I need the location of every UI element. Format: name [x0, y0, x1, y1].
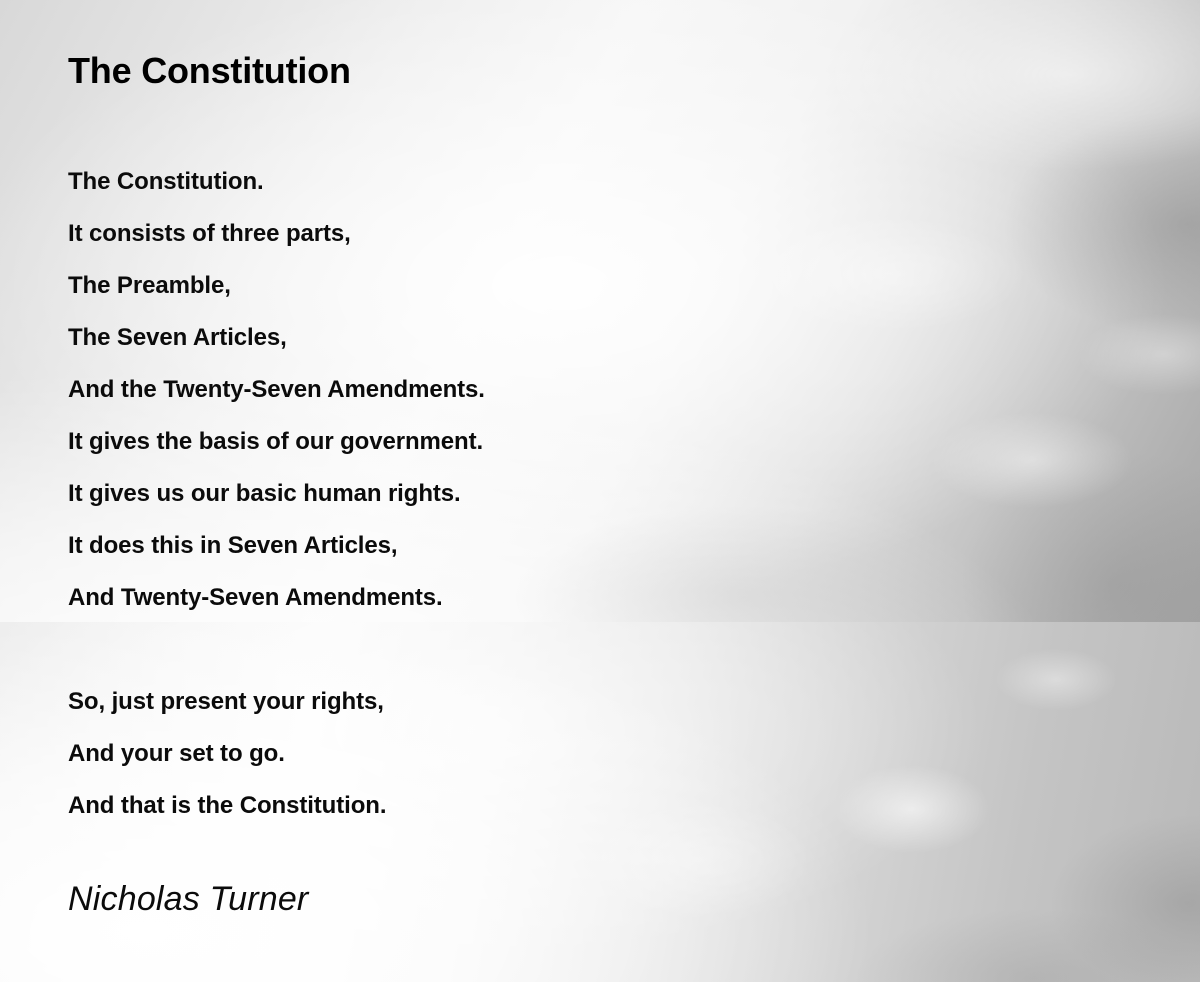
poem-stanza-one: The Constitution.It consists of three pa… — [68, 156, 1128, 624]
poem-line: And that is the Constitution. — [68, 780, 1128, 832]
poem-title: The Constitution — [68, 50, 351, 92]
poem-line: And Twenty-Seven Amendments. — [68, 572, 1128, 624]
poem-content: The Constitution The Constitution.It con… — [0, 0, 1200, 982]
poem-stanza-two: So, just present your rights,And your se… — [68, 676, 1128, 832]
poem-line: And the Twenty-Seven Amendments. — [68, 364, 1128, 416]
poem-author: Nicholas Turner — [68, 880, 308, 919]
poem-line: The Seven Articles, — [68, 312, 1128, 364]
poem-line: It gives the basis of our government. — [68, 416, 1128, 468]
poem-line: And your set to go. — [68, 728, 1128, 780]
poem-line: It consists of three parts, — [68, 208, 1128, 260]
poem-line: So, just present your rights, — [68, 676, 1128, 728]
poem-line: The Constitution. — [68, 156, 1128, 208]
poem-page: The Constitution The Constitution.It con… — [0, 0, 1200, 982]
poem-line: The Preamble, — [68, 260, 1128, 312]
poem-line: It does this in Seven Articles, — [68, 520, 1128, 572]
poem-line: It gives us our basic human rights. — [68, 468, 1128, 520]
